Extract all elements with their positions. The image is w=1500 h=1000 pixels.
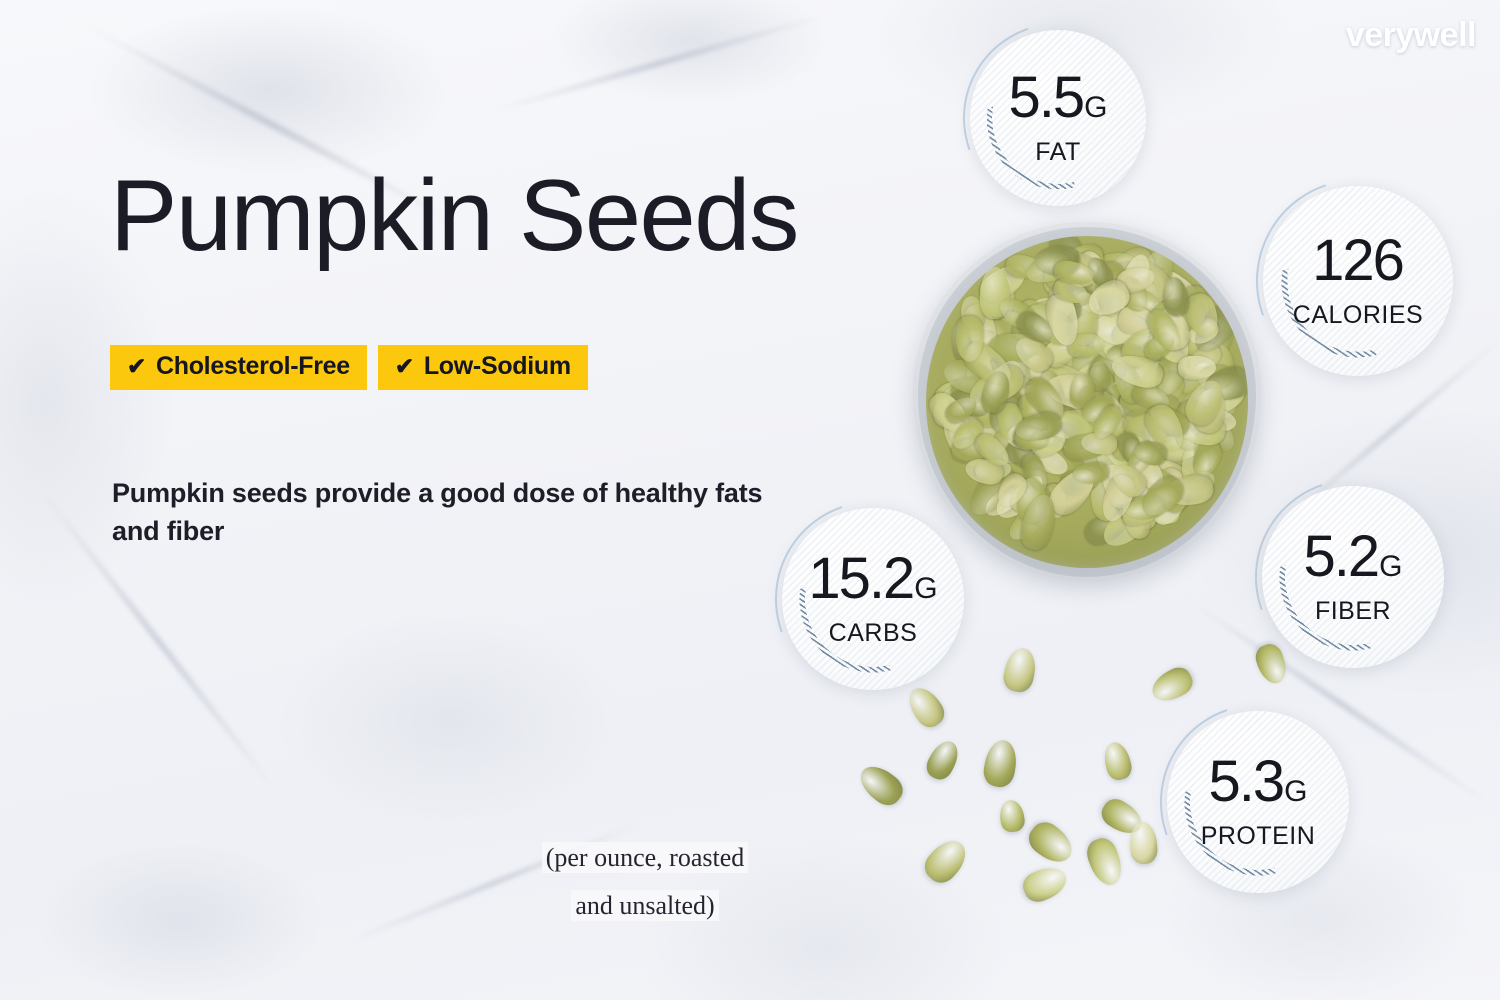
attribute-badge-list: ✔ Cholesterol-Free ✔ Low-Sodium [110, 345, 588, 390]
nutrition-value: 5.3 [1209, 753, 1284, 811]
nutrition-bubble-fiber: 5.2G FIBER [1262, 486, 1444, 668]
nutrition-label: FAT [1035, 138, 1080, 167]
serving-footnote: (per ounce, roasted and unsalted) [500, 834, 790, 930]
nutrition-value: 15.2 [808, 550, 913, 608]
badge-cholesterol-free: ✔ Cholesterol-Free [110, 345, 367, 390]
verywell-logo: verywell [1346, 16, 1476, 55]
nutrition-unit: G [1379, 552, 1402, 582]
nutrition-value-row: 5.3G [1209, 753, 1308, 811]
nutrition-value-row: 5.2G [1304, 528, 1403, 586]
badge-low-sodium: ✔ Low-Sodium [378, 345, 588, 390]
footnote-line-2: and unsalted) [571, 890, 718, 921]
nutrition-value-row: 126 [1312, 232, 1404, 290]
nutrition-unit: G [914, 574, 937, 604]
nutrition-unit: G [1084, 93, 1107, 123]
check-icon: ✔ [395, 355, 414, 378]
nutrition-bubble-fat: 5.5G FAT [970, 30, 1146, 206]
badge-label: Low-Sodium [424, 354, 571, 379]
nutrition-value: 5.5 [1009, 69, 1084, 127]
nutrition-bubble-protein: 5.3G PROTEIN [1167, 711, 1349, 893]
nutrition-label: FIBER [1315, 597, 1391, 626]
description-text: Pumpkin seeds provide a good dose of hea… [112, 474, 792, 551]
nutrition-bubble-calories: 126 CALORIES [1263, 186, 1453, 376]
nutrition-label: PROTEIN [1201, 822, 1316, 851]
nutrition-value: 5.2 [1304, 528, 1379, 586]
nutrition-label: CARBS [829, 619, 918, 648]
nutrition-value-row: 5.5G [1009, 69, 1108, 127]
page-title: Pumpkin Seeds [110, 163, 798, 269]
badge-label: Cholesterol-Free [156, 354, 350, 379]
nutrition-label: CALORIES [1293, 301, 1423, 330]
infographic-canvas: verywell Pumpkin Seeds ✔ Cholesterol-Fre… [0, 0, 1500, 1000]
nutrition-bubble-carbs: 15.2G CARBS [782, 508, 964, 690]
seed-bowl-photo [913, 222, 1261, 582]
nutrition-value-row: 15.2G [808, 550, 937, 608]
check-icon: ✔ [127, 355, 146, 378]
nutrition-value: 126 [1312, 232, 1403, 290]
footnote-line-1: (per ounce, roasted [542, 842, 749, 873]
nutrition-unit: G [1284, 777, 1307, 807]
seeds-in-bowl [926, 236, 1248, 568]
